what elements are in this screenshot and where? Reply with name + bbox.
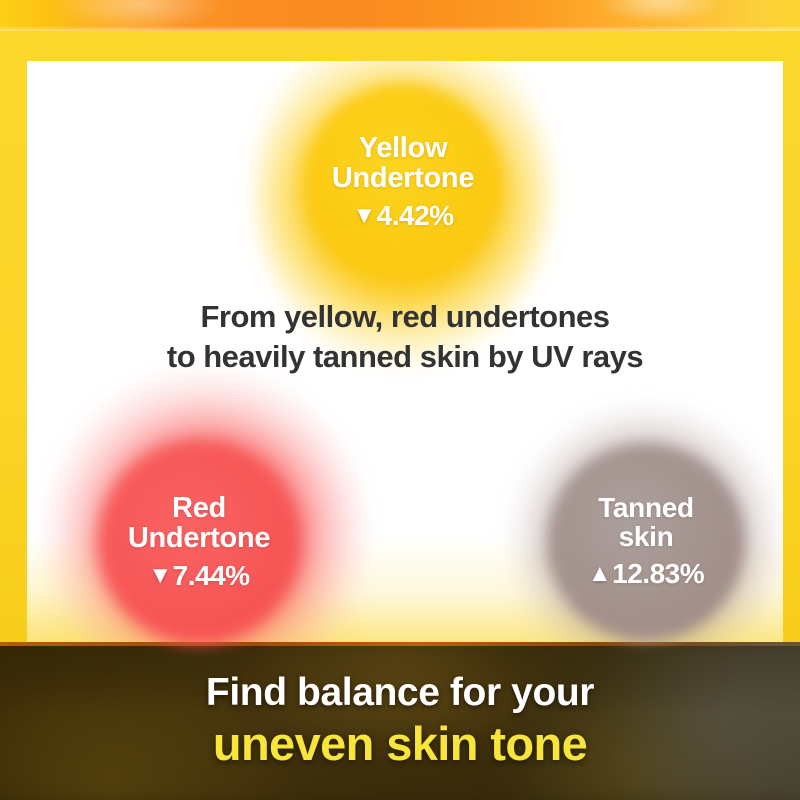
yellow-frame: Yellow Undertone ▼ 4.42% From yellow, re… — [0, 31, 800, 642]
yellow-blob-value: 4.42% — [377, 200, 454, 232]
red-blob-title: Red Undertone — [128, 494, 270, 553]
blob-yellow-undertone: Yellow Undertone ▼ 4.42% — [305, 85, 501, 281]
headline-line-2: to heavily tanned skin by UV rays — [27, 337, 783, 377]
blob-red-undertone: Red Undertone ▼ 7.44% — [99, 443, 299, 643]
triangle-down-icon: ▼ — [352, 202, 375, 230]
banner-line-2: uneven skin tone — [213, 717, 587, 771]
headline-block: From yellow, red undertones to heavily t… — [27, 297, 783, 378]
banner-text-block: Find balance for your uneven skin tone — [0, 642, 800, 800]
red-blob-title-line2: Undertone — [128, 522, 270, 554]
red-blob-delta: ▼ 7.44% — [128, 560, 270, 592]
tanned-blob-value: 12.83% — [612, 558, 704, 590]
banner-line-1: Find balance for your — [206, 671, 594, 716]
triangle-up-icon: ▲ — [588, 560, 611, 588]
yellow-blob-title-line1: Yellow — [359, 132, 447, 164]
tanned-blob-title-line2: skin — [619, 521, 674, 552]
tanned-blob-title-line1: Tanned — [598, 492, 694, 523]
top-orange-photo-band — [0, 0, 800, 31]
yellow-blob-delta: ▼ 4.42% — [332, 200, 474, 232]
yellow-blob-content: Yellow Undertone ▼ 4.42% — [332, 134, 474, 232]
poster-root: Yellow Undertone ▼ 4.42% From yellow, re… — [0, 0, 800, 800]
tanned-blob-delta: ▲ 12.83% — [588, 558, 704, 590]
yellow-blob-title-line2: Undertone — [332, 162, 474, 194]
headline-line-1: From yellow, red undertones — [27, 297, 783, 337]
red-blob-title-line1: Red — [172, 492, 226, 524]
triangle-down-icon: ▼ — [148, 562, 171, 590]
red-blob-content: Red Undertone ▼ 7.44% — [128, 494, 270, 592]
yellow-blob-title: Yellow Undertone — [332, 134, 474, 193]
white-content-card: Yellow Undertone ▼ 4.42% From yellow, re… — [27, 61, 783, 657]
blob-tanned-skin: Tanned skin ▲ 12.83% — [548, 444, 744, 640]
tanned-blob-content: Tanned skin ▲ 12.83% — [588, 494, 704, 589]
bottom-banner: Find balance for your uneven skin tone — [0, 642, 800, 800]
red-blob-value: 7.44% — [173, 560, 250, 592]
tanned-blob-title: Tanned skin — [588, 494, 704, 551]
